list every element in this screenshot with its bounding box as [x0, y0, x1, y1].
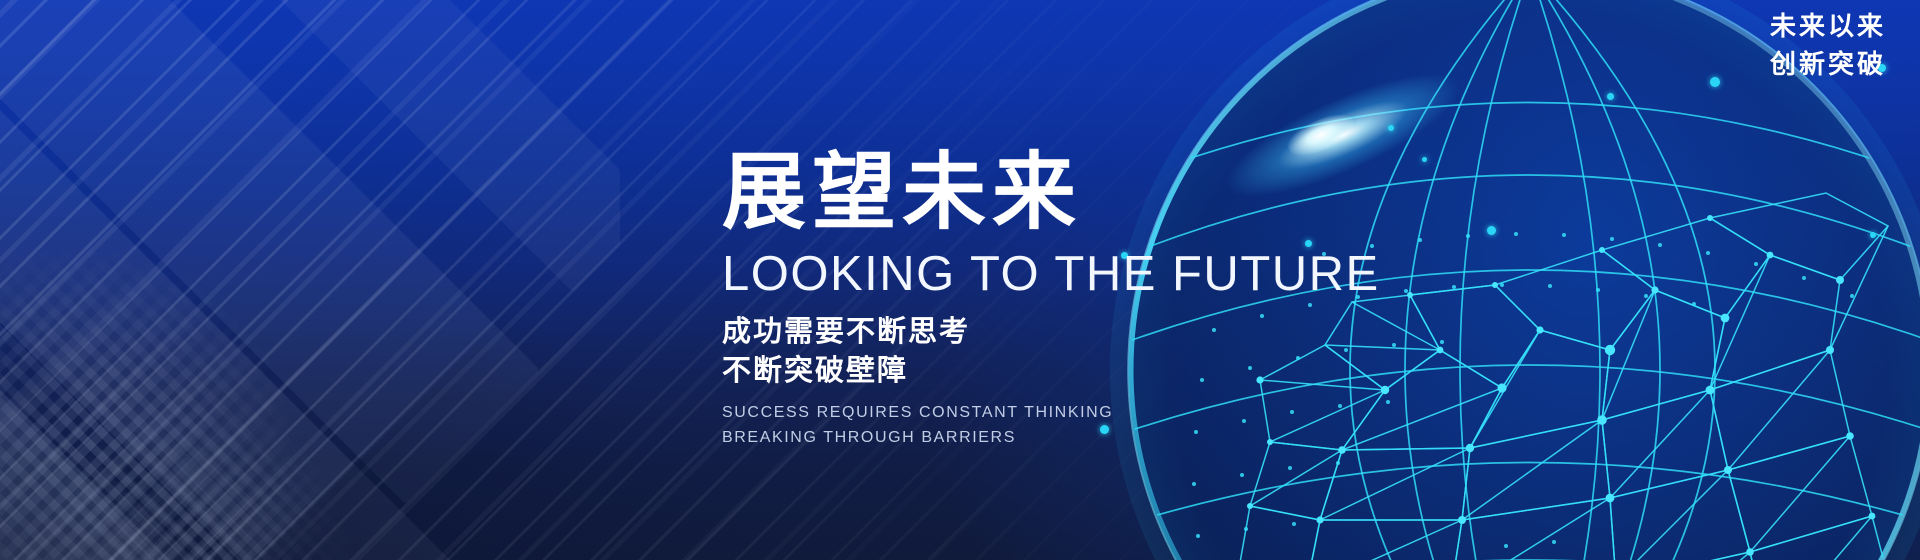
sparkle-dot [1607, 93, 1614, 100]
sparkle-dot [1422, 157, 1427, 162]
page-title: 展望未来 [722, 150, 1422, 236]
sparkle-dot [1870, 232, 1876, 238]
subtitle-en-line-1: SUCCESS REQUIRES CONSTANT THINKING [722, 401, 1422, 426]
sparkle-dot [1487, 226, 1496, 235]
sparkle-dot [1710, 77, 1720, 87]
diagonal-slab [35, 0, 620, 292]
diagonal-slab [0, 500, 76, 560]
diagonal-slab [0, 120, 437, 560]
subtitle-en-line-2: BREAKING THROUGH BARRIERS [722, 426, 1422, 451]
subtitle-cn-line-1: 成功需要不断思考 [722, 313, 1422, 352]
hero-banner: 展望未来 LOOKING TO THE FUTURE 成功需要不断思考 不断突破… [0, 0, 1920, 560]
diagonal-slab [0, 330, 322, 560]
corner-tagline: 未来以来 创新突破 [1770, 8, 1886, 83]
geometry-clip [0, 0, 620, 560]
sparkle-dot [1388, 125, 1394, 131]
diagonal-slab [0, 0, 540, 504]
subtitle-cn-line-2: 不断突破壁障 [722, 352, 1422, 391]
corner-tagline-line-2: 创新突破 [1770, 46, 1886, 84]
page-title-english: LOOKING TO THE FUTURE [722, 250, 1422, 299]
diagonal-slab [0, 0, 486, 560]
headline-block: 展望未来 LOOKING TO THE FUTURE 成功需要不断思考 不断突破… [722, 150, 1422, 451]
checker-grid [0, 331, 419, 560]
checker-grid [0, 157, 388, 560]
corner-tagline-line-1: 未来以来 [1770, 8, 1886, 46]
